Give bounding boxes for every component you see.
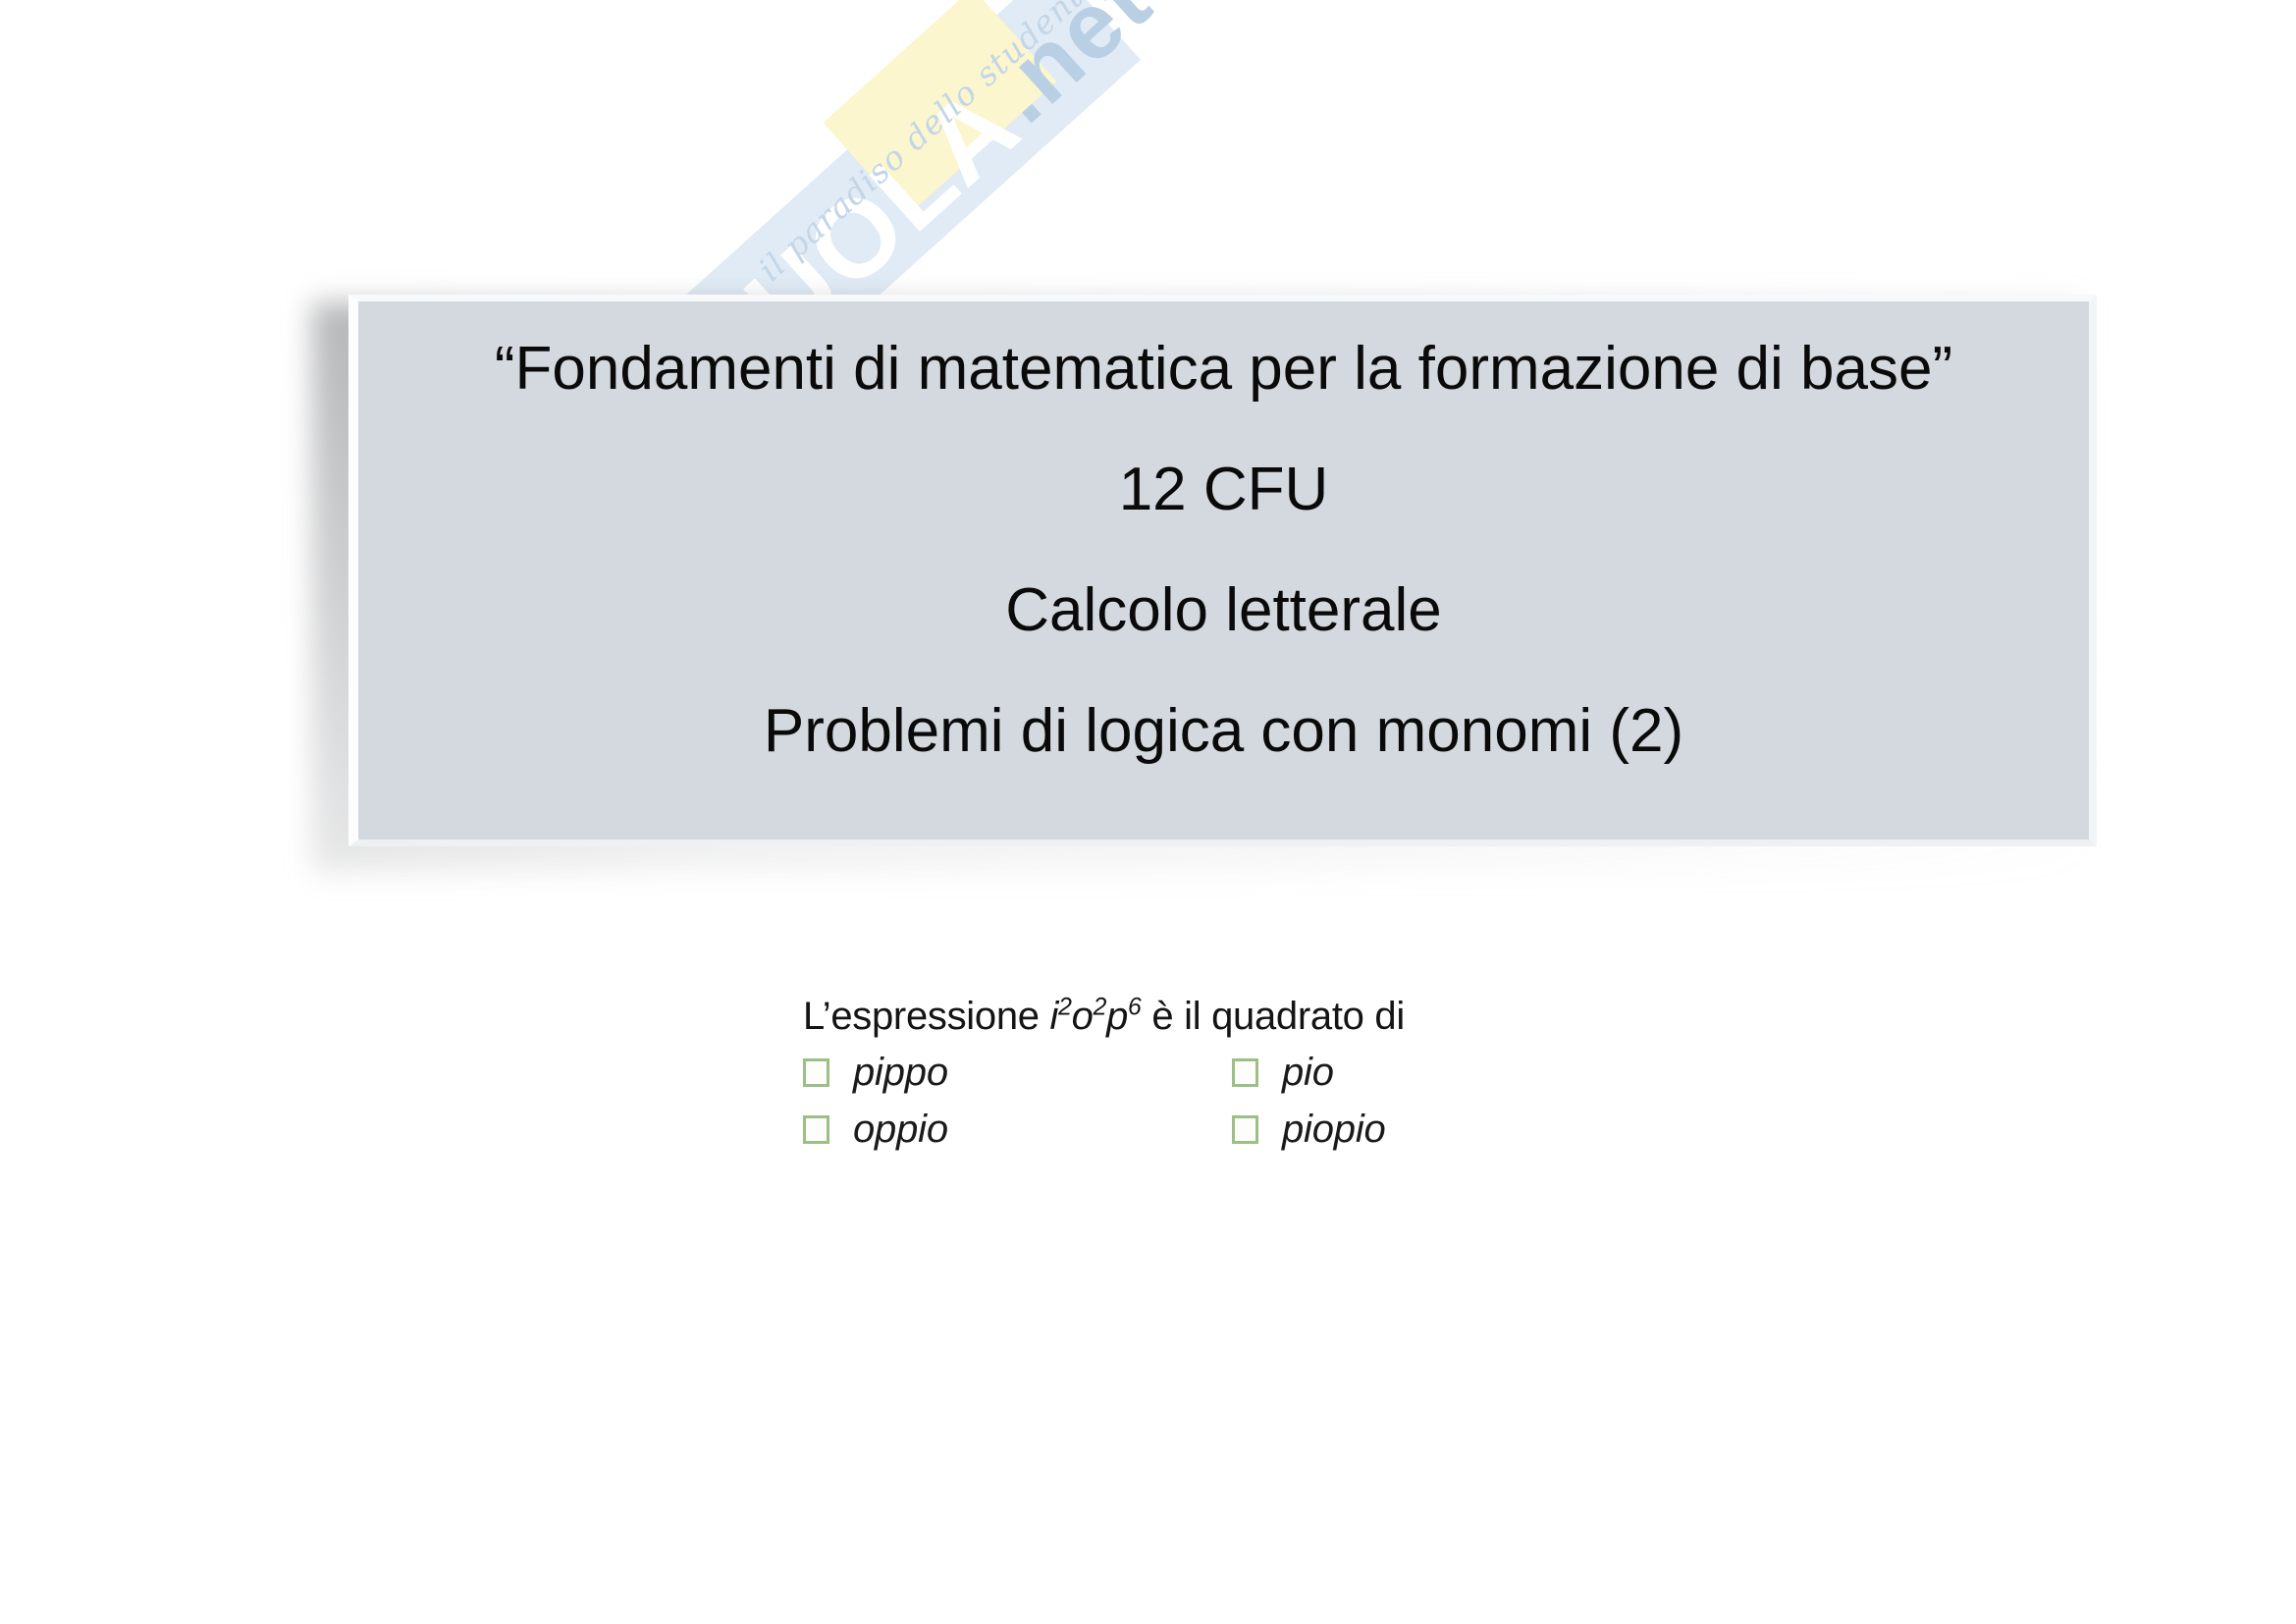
expression-exponent-p: 6 bbox=[1128, 995, 1142, 1021]
watermark-tagline: il paradiso dello studente bbox=[751, 0, 1105, 289]
option-label: pippo bbox=[853, 1053, 948, 1092]
option-label: oppio bbox=[853, 1110, 948, 1149]
expression-base-p: p bbox=[1106, 995, 1128, 1038]
expression-base-o: o bbox=[1072, 995, 1094, 1038]
option-pio[interactable]: pio bbox=[1232, 1053, 1334, 1092]
subtopic-line: Problemi di logica con monomi (2) bbox=[764, 699, 1683, 763]
answer-row: pippo pio bbox=[803, 1053, 1549, 1110]
option-label: pio bbox=[1282, 1053, 1334, 1092]
question-prefix: L’espressione bbox=[803, 995, 1050, 1038]
expression-base-i: i bbox=[1050, 995, 1059, 1038]
checkbox-icon[interactable] bbox=[1232, 1115, 1258, 1144]
title-plaque: “Fondamenti di matematica per la formazi… bbox=[348, 295, 2097, 846]
expression-exponent-i: 2 bbox=[1058, 995, 1072, 1021]
question-text: L’espressione i2o2p6 è il quadrato di bbox=[803, 994, 1549, 1039]
option-oppio[interactable]: oppio bbox=[803, 1110, 1232, 1149]
watermark-highlight bbox=[824, 0, 1057, 216]
credits-line: 12 CFU bbox=[1119, 458, 1329, 521]
option-piopio[interactable]: piopio bbox=[1232, 1110, 1386, 1149]
topic-line: Calcolo letterale bbox=[1005, 578, 1442, 642]
course-title-line: “Fondamenti di matematica per la formazi… bbox=[495, 337, 1952, 401]
question-suffix: è il quadrato di bbox=[1142, 995, 1405, 1038]
expression-exponent-o: 2 bbox=[1094, 995, 1107, 1021]
watermark-domain-text: .net bbox=[974, 0, 1167, 139]
checkbox-icon[interactable] bbox=[803, 1115, 829, 1144]
answer-options: pippo pio oppio piopio bbox=[803, 1053, 1549, 1166]
quiz-block: L’espressione i2o2p6 è il quadrato di pi… bbox=[803, 994, 1549, 1166]
checkbox-icon[interactable] bbox=[1232, 1058, 1258, 1087]
option-label: piopio bbox=[1282, 1110, 1386, 1149]
option-pippo[interactable]: pippo bbox=[803, 1053, 1232, 1092]
title-plaque-container: “Fondamenti di matematica per la formazi… bbox=[312, 287, 2107, 876]
answer-row: oppio piopio bbox=[803, 1110, 1549, 1166]
checkbox-icon[interactable] bbox=[803, 1058, 829, 1087]
